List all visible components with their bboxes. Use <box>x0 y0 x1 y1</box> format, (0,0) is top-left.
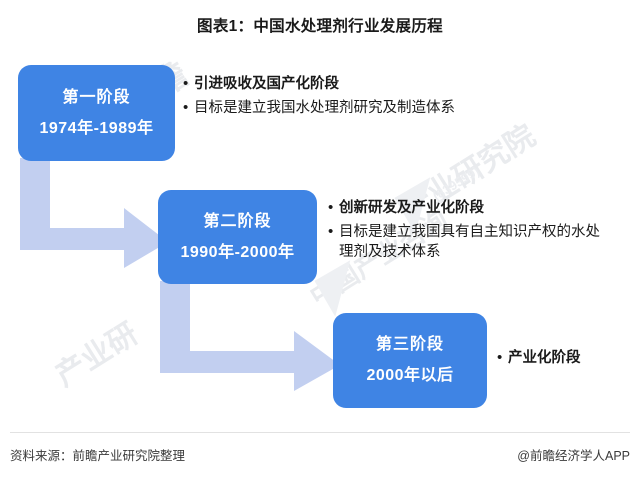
stage-1-bullet-1: 引进吸收及国产化阶段 <box>194 74 339 94</box>
list-item: • 引进吸收及国产化阶段 <box>183 74 483 95</box>
stage-2-bullet-list: • 创新研发及产业化阶段 • 目标是建立我国具有自主知识产权的水处理剂及技术体系 <box>328 198 613 265</box>
stage-2-bullet-2: 目标是建立我国具有自主知识产权的水处理剂及技术体系 <box>339 222 613 262</box>
bullet-dot-icon: • <box>328 198 339 219</box>
page-title: 图表1：中国水处理剂行业发展历程 <box>0 14 640 36</box>
figure-canvas: 图表1：中国水处理剂行业发展历程 前瞻 产业研究院 中国产业咨询 (839599… <box>0 0 640 479</box>
footer-divider <box>10 432 630 433</box>
stage-box-2[interactable]: 第二阶段 1990年-2000年 <box>158 190 317 284</box>
stage-2-bullet-1: 创新研发及产业化阶段 <box>339 198 484 218</box>
stage-box-3[interactable]: 第三阶段 2000年以后 <box>333 313 487 408</box>
stage-3-name: 第三阶段 <box>376 336 444 354</box>
brand-credit: @前瞻经济学人APP <box>517 445 630 464</box>
list-item: • 产业化阶段 <box>497 348 637 369</box>
bullet-dot-icon: • <box>497 348 508 369</box>
stage-3-period: 2000年以后 <box>366 367 453 385</box>
stage-2-name: 第二阶段 <box>203 213 271 231</box>
stage-1-bullet-list: • 引进吸收及国产化阶段 • 目标是建立我国水处理剂研究及制造体系 <box>183 74 483 121</box>
bullet-dot-icon: • <box>328 222 339 243</box>
footer: 资料来源：前瞻产业研究院整理 @前瞻经济学人APP <box>10 445 630 464</box>
connector-arrow-stage2-to-stage3 <box>160 281 345 391</box>
watermark-text: 产业研 <box>45 309 145 394</box>
stage-1-name: 第一阶段 <box>62 89 130 107</box>
stage-1-period: 1974年-1989年 <box>39 120 153 138</box>
stage-3-bullet-1: 产业化阶段 <box>508 348 581 368</box>
bullet-dot-icon: • <box>183 74 194 95</box>
stage-1-bullet-2: 目标是建立我国水处理剂研究及制造体系 <box>194 98 455 118</box>
list-item: • 目标是建立我国水处理剂研究及制造体系 <box>183 98 483 119</box>
list-item: • 目标是建立我国具有自主知识产权的水处理剂及技术体系 <box>328 222 613 262</box>
stage-box-1[interactable]: 第一阶段 1974年-1989年 <box>18 65 175 161</box>
list-item: • 创新研发及产业化阶段 <box>328 198 613 219</box>
stage-3-bullet-list: • 产业化阶段 <box>497 348 637 372</box>
source-note: 资料来源：前瞻产业研究院整理 <box>10 445 185 464</box>
stage-2-period: 1990年-2000年 <box>180 244 294 262</box>
bullet-dot-icon: • <box>183 98 194 119</box>
connector-arrow-stage1-to-stage2 <box>20 158 172 268</box>
